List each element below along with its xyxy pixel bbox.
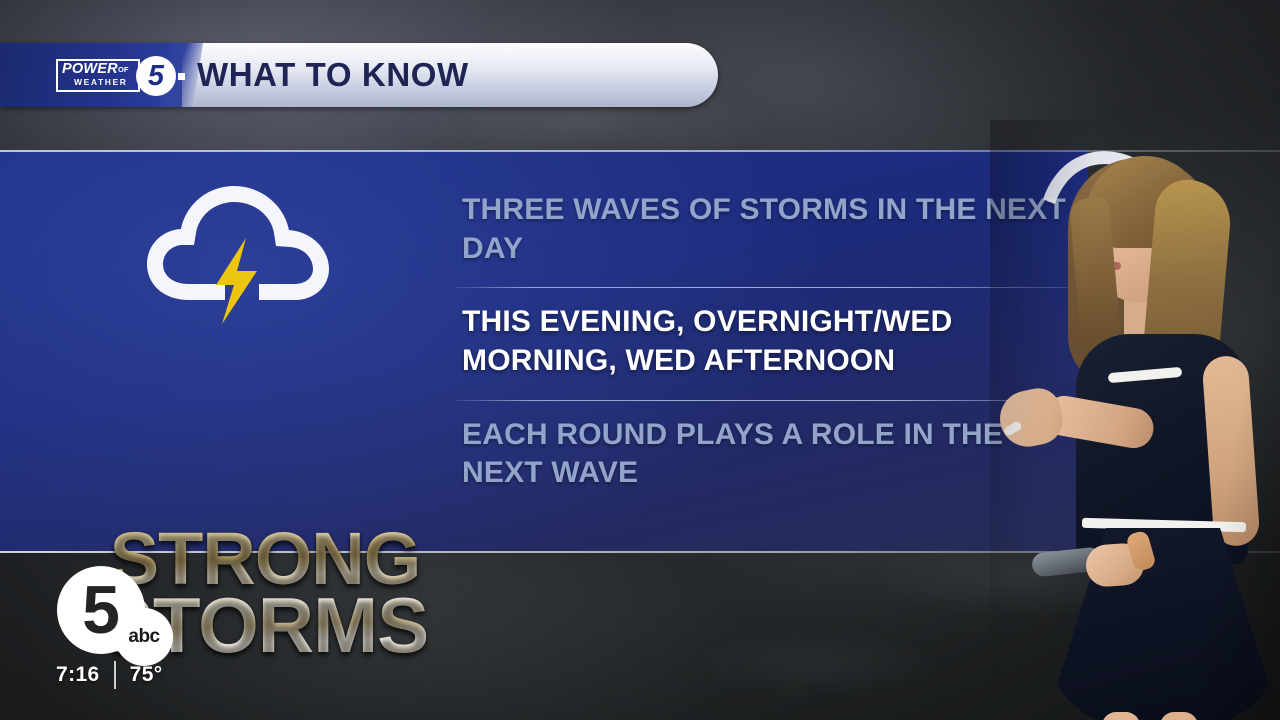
- station-bug: 5 abc 7:16 75°: [57, 566, 217, 694]
- bullet-text-3: EACH ROUND PLAYS A ROLE IN THE NEXT WAVE: [462, 416, 1082, 493]
- logo-weather-text: WEATHER: [74, 77, 128, 87]
- header-bar: POWER OF WEATHER 5 WHAT TO KNOW: [0, 43, 718, 107]
- logo-of-text: OF: [118, 65, 128, 74]
- station-bug-meta: 7:16 75°: [56, 661, 163, 689]
- logo-channel-circle: 5: [136, 56, 176, 96]
- page-title: WHAT TO KNOW: [197, 43, 469, 107]
- presenter-gesturing-hand: [995, 384, 1067, 452]
- bullet-text-2: THIS EVENING, OVERNIGHT/WED MORNING, WED…: [462, 303, 1082, 380]
- storm-graphic: STRONG STORMS: [85, 172, 445, 502]
- bullet-divider-2: [456, 400, 1076, 401]
- abc-network-label: abc: [115, 608, 173, 666]
- power-of-5-weather-logo: POWER OF WEATHER 5: [56, 56, 171, 96]
- bullet-item-1: THREE WAVES OF STORMS IN THE NEXT DAY: [462, 185, 1082, 278]
- current-time: 7:16: [56, 663, 100, 687]
- logo-power-text: POWER: [62, 61, 118, 77]
- bullet-list: THREE WAVES OF STORMS IN THE NEXT DAY TH…: [462, 185, 1082, 503]
- abc-network-circle: abc: [115, 608, 173, 666]
- logo-channel-number: 5: [136, 56, 176, 96]
- logo-square-dot: [178, 73, 185, 80]
- current-temperature: 75°: [130, 663, 163, 687]
- bullet-item-3: EACH ROUND PLAYS A ROLE IN THE NEXT WAVE: [462, 410, 1082, 503]
- meteorologist: [990, 120, 1280, 720]
- bullet-text-1: THREE WAVES OF STORMS IN THE NEXT DAY: [462, 191, 1082, 268]
- bullet-divider-1: [456, 287, 1076, 288]
- thunderstorm-cloud-icon: [133, 172, 348, 332]
- bullet-item-2: THIS EVENING, OVERNIGHT/WED MORNING, WED…: [462, 297, 1082, 390]
- bug-separator: [114, 661, 116, 689]
- broadcast-screen: POWER OF WEATHER 5 WHAT TO KNOW STRONG S…: [0, 0, 1280, 720]
